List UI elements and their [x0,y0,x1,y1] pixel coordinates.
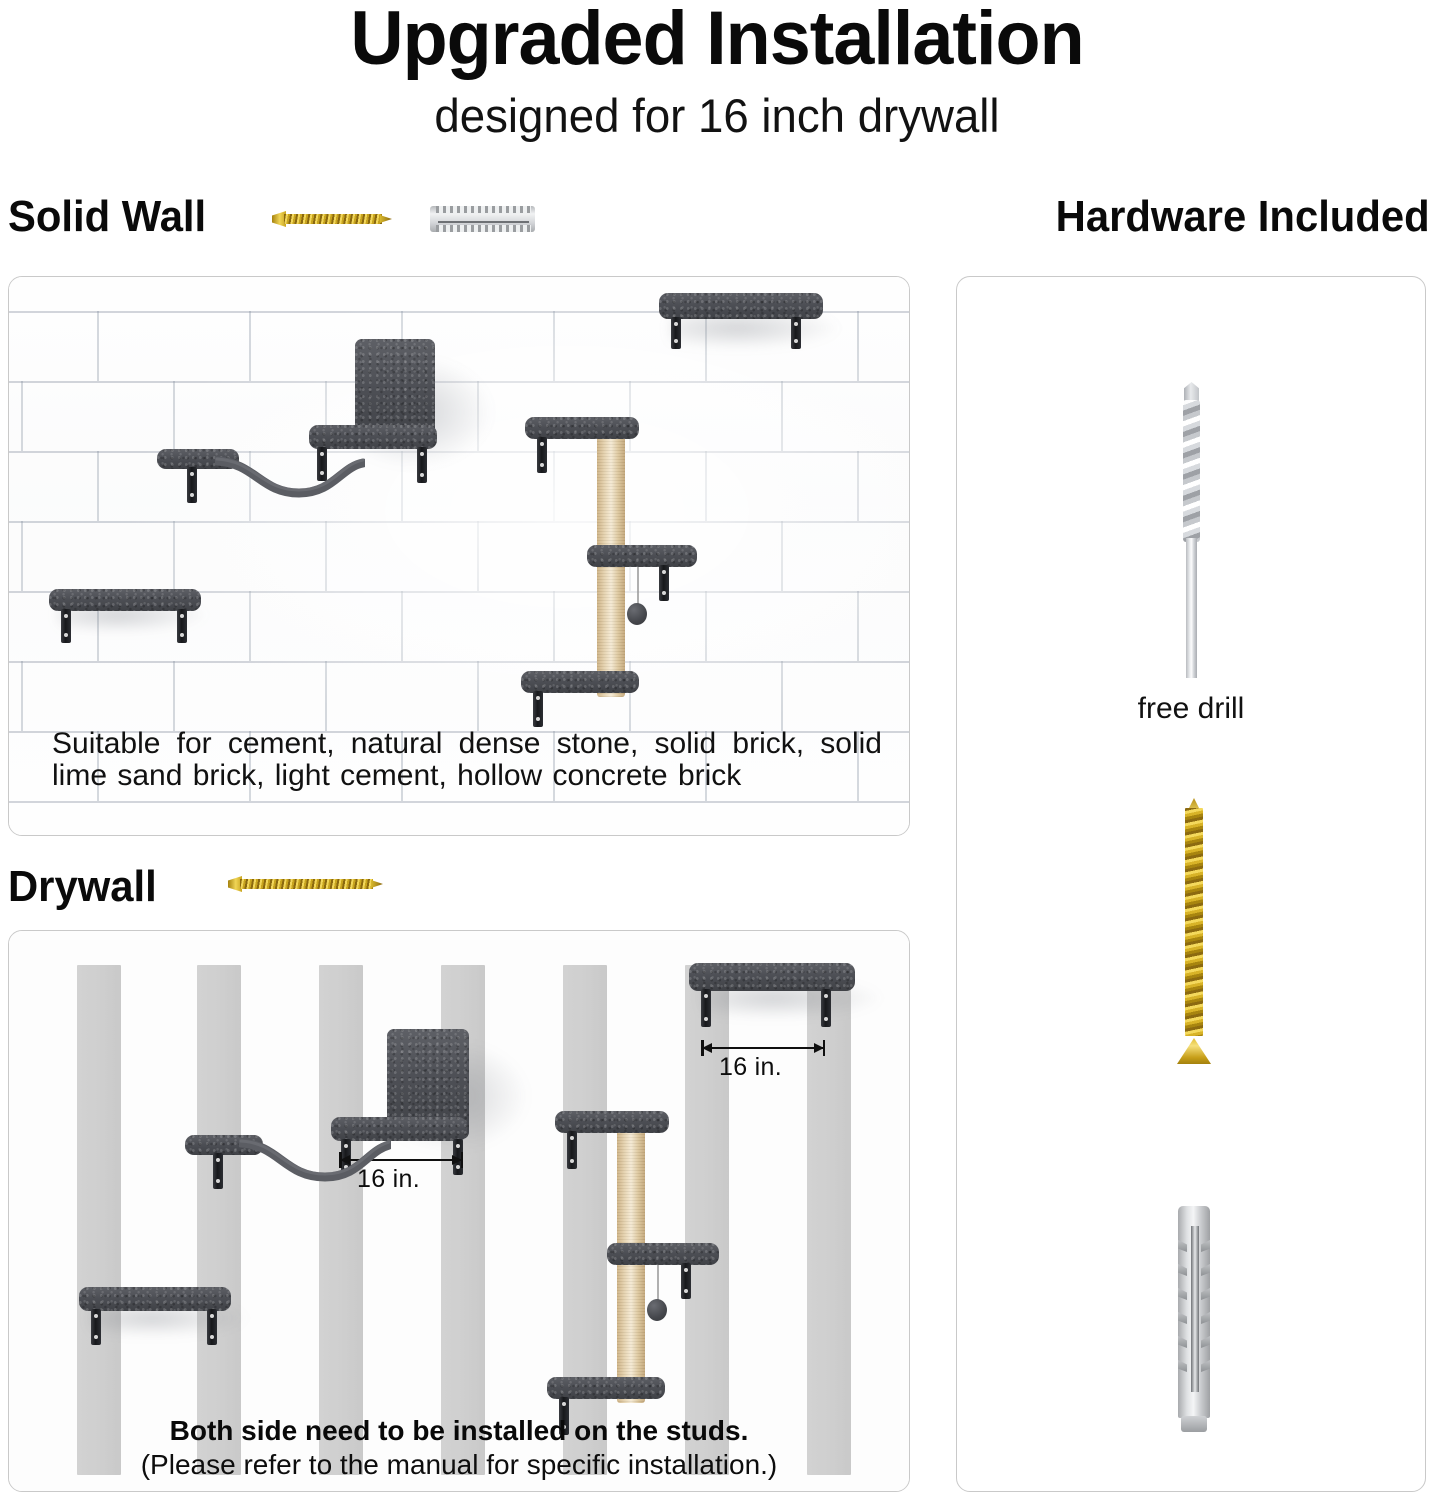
screw-icon [272,211,392,227]
cat-ramp [239,1137,391,1185]
drywall-illustration-panel: 16 in. 16 in. [8,930,910,1492]
wall-anchor-icon [430,206,535,232]
wall-shelf [49,589,201,611]
wall-stud [807,965,851,1475]
wall-shelf [689,963,855,991]
mounting-bracket [187,467,197,503]
dimension-line [701,1047,825,1049]
post-mid-shelf [587,545,697,567]
mounting-bracket [537,437,547,473]
wall-shelf [79,1287,231,1311]
wall-shelf [659,293,823,319]
post-top-shelf [525,417,639,439]
post-bottom-shelf [521,671,639,693]
drywall-caption-bold: Both side need to be installed on the st… [8,1414,910,1448]
post-top-shelf [555,1111,669,1133]
wall-stud [319,965,363,1475]
wall-stud [685,965,729,1475]
wood-screw-icon [1172,798,1216,1070]
mounting-bracket [681,1263,691,1299]
mounting-bracket [533,691,543,727]
page-subtitle: designed for 16 inch drywall [22,88,1413,144]
wall-stud [77,965,121,1475]
page-title: Upgraded Installation [22,0,1413,82]
toy-string [637,567,639,607]
cat-ramp [215,453,365,501]
dangling-ball-toy [627,603,647,625]
solid-wall-heading: Solid Wall [8,190,206,244]
mounting-bracket [791,317,801,349]
masonry-drill-bit-icon [1176,378,1206,678]
solid-wall-caption: Suitable for cement, natural dense stone… [52,728,882,792]
screw-icon [228,876,383,892]
drywall-heading: Drywall [8,860,157,914]
post-bottom-shelf [547,1377,665,1399]
mounting-bracket [177,609,187,643]
mounting-bracket [417,447,427,483]
wall-stud [197,965,241,1475]
mounting-bracket [213,1153,223,1189]
mounting-bracket [91,1309,101,1345]
drywall-caption-note: (Please refer to the manual for specific… [8,1448,910,1482]
mounting-bracket [61,609,71,643]
mounting-bracket [659,565,669,601]
hardware-heading: Hardware Included [1056,190,1430,244]
dangling-ball-toy [647,1299,667,1321]
mounting-bracket [567,1131,577,1169]
drywall-caption: Both side need to be installed on the st… [8,1414,910,1482]
toy-string [657,1265,659,1303]
wall-anchor-icon [1178,1206,1210,1432]
mounting-bracket [671,317,681,349]
post-mid-shelf [607,1243,719,1265]
mounting-bracket [821,989,831,1027]
free-drill-label: free drill [956,692,1426,726]
mounting-bracket [207,1309,217,1345]
dimension-label: 16 in. [719,1053,782,1082]
cat-perch-platform [309,425,437,449]
mounting-bracket [701,989,711,1027]
